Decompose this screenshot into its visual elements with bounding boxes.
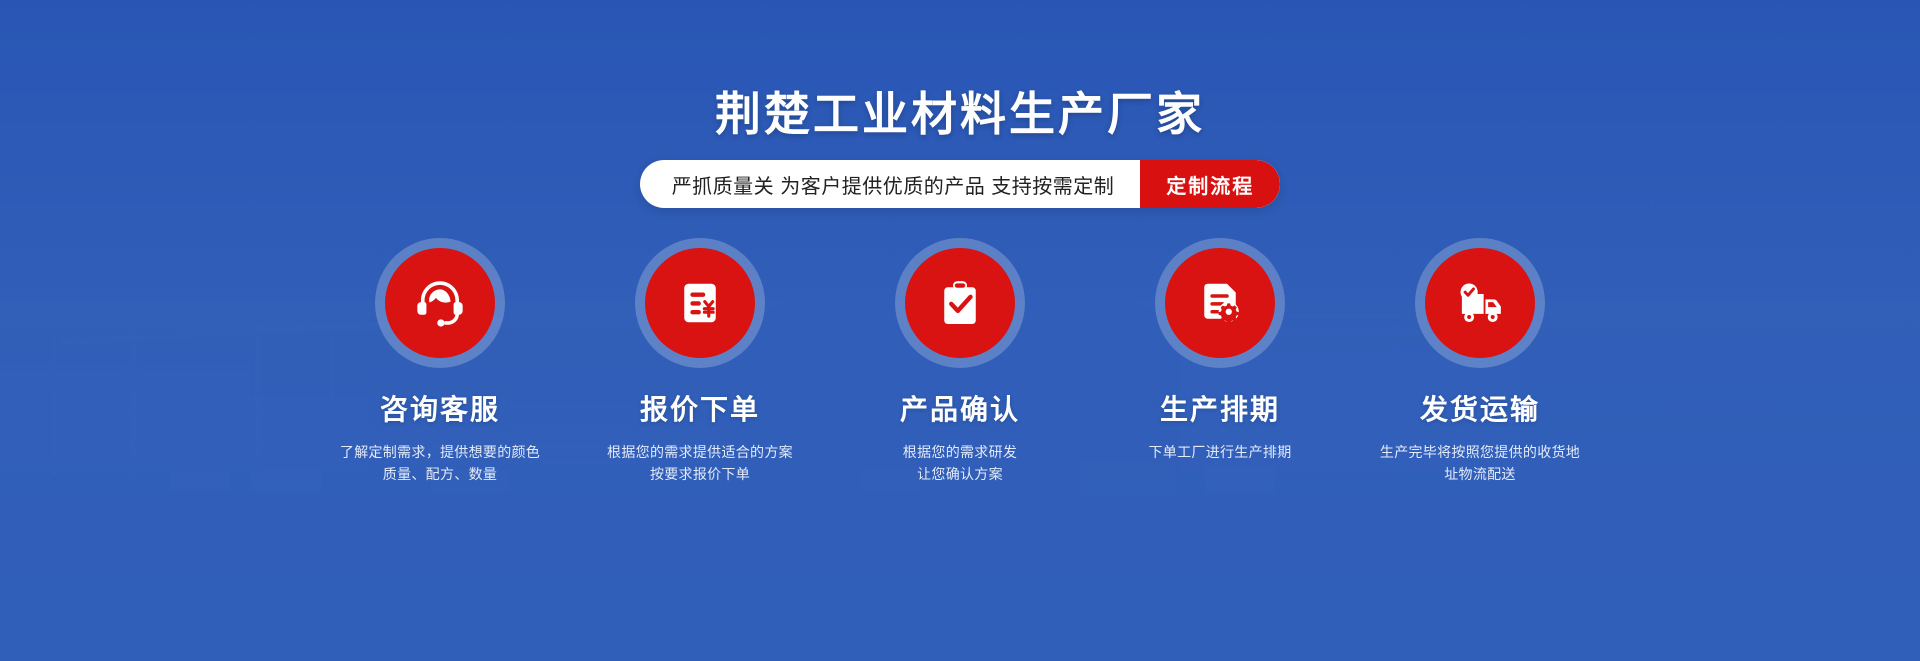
step-desc-line: 根据您的需求研发 [903,442,1017,464]
quotation-invoice-icon [645,248,755,358]
step-desc-line: 质量、配方、数量 [340,464,540,486]
step-description: 生产完毕将按照您提供的收货地 址物流配送 [1380,442,1580,485]
step-desc-line: 按要求报价下单 [607,464,793,486]
step-desc-line: 下单工厂进行生产排期 [1149,442,1292,464]
process-step-2[interactable]: 报价下单 根据您的需求提供适合的方案 按要求报价下单 [570,248,830,485]
custom-process-button[interactable]: 定制流程 [1140,160,1280,208]
process-step-3[interactable]: 产品确认 根据您的需求研发 让您确认方案 [830,248,1090,485]
page-title: 荆楚工业材料生产厂家 [0,88,1920,141]
process-steps: 咨询客服 了解定制需求，提供想要的颜色 质量、配方、数量 [0,248,1920,485]
step-description: 根据您的需求研发 让您确认方案 [903,442,1017,485]
subtitle-text: 严抓质量关 为客户提供优质的产品 支持按需定制 [640,160,1141,208]
step-title: 发货运输 [1420,388,1540,428]
step-description: 下单工厂进行生产排期 [1149,442,1292,464]
step-description: 了解定制需求，提供想要的颜色 质量、配方、数量 [340,442,540,485]
step-title: 产品确认 [900,388,1020,428]
banner-content: 荆楚工业材料生产厂家 严抓质量关 为客户提供优质的产品 支持按需定制 定制流程 [0,0,1920,661]
promo-banner: 荆楚工业材料生产厂家 严抓质量关 为客户提供优质的产品 支持按需定制 定制流程 [0,0,1920,661]
delivery-truck-check-icon [1425,248,1535,358]
step-desc-line: 址物流配送 [1380,464,1580,486]
clipboard-check-icon [905,248,1015,358]
step-desc-line: 根据您的需求提供适合的方案 [607,442,793,464]
step-title: 咨询客服 [380,388,500,428]
step-desc-line: 了解定制需求，提供想要的颜色 [340,442,540,464]
step-title: 报价下单 [640,388,760,428]
step-desc-line: 生产完毕将按照您提供的收货地 [1380,442,1580,464]
headset-support-icon [385,248,495,358]
process-step-1[interactable]: 咨询客服 了解定制需求，提供想要的颜色 质量、配方、数量 [310,248,570,485]
document-gear-icon [1165,248,1275,358]
subtitle-bar-wrapper: 严抓质量关 为客户提供优质的产品 支持按需定制 定制流程 [0,160,1920,208]
process-step-5[interactable]: 发货运输 生产完毕将按照您提供的收货地 址物流配送 [1350,248,1610,485]
step-desc-line: 让您确认方案 [903,464,1017,486]
subtitle-bar: 严抓质量关 为客户提供优质的产品 支持按需定制 定制流程 [640,160,1281,208]
process-step-4[interactable]: 生产排期 下单工厂进行生产排期 [1090,248,1350,464]
step-description: 根据您的需求提供适合的方案 按要求报价下单 [607,442,793,485]
step-title: 生产排期 [1160,388,1280,428]
